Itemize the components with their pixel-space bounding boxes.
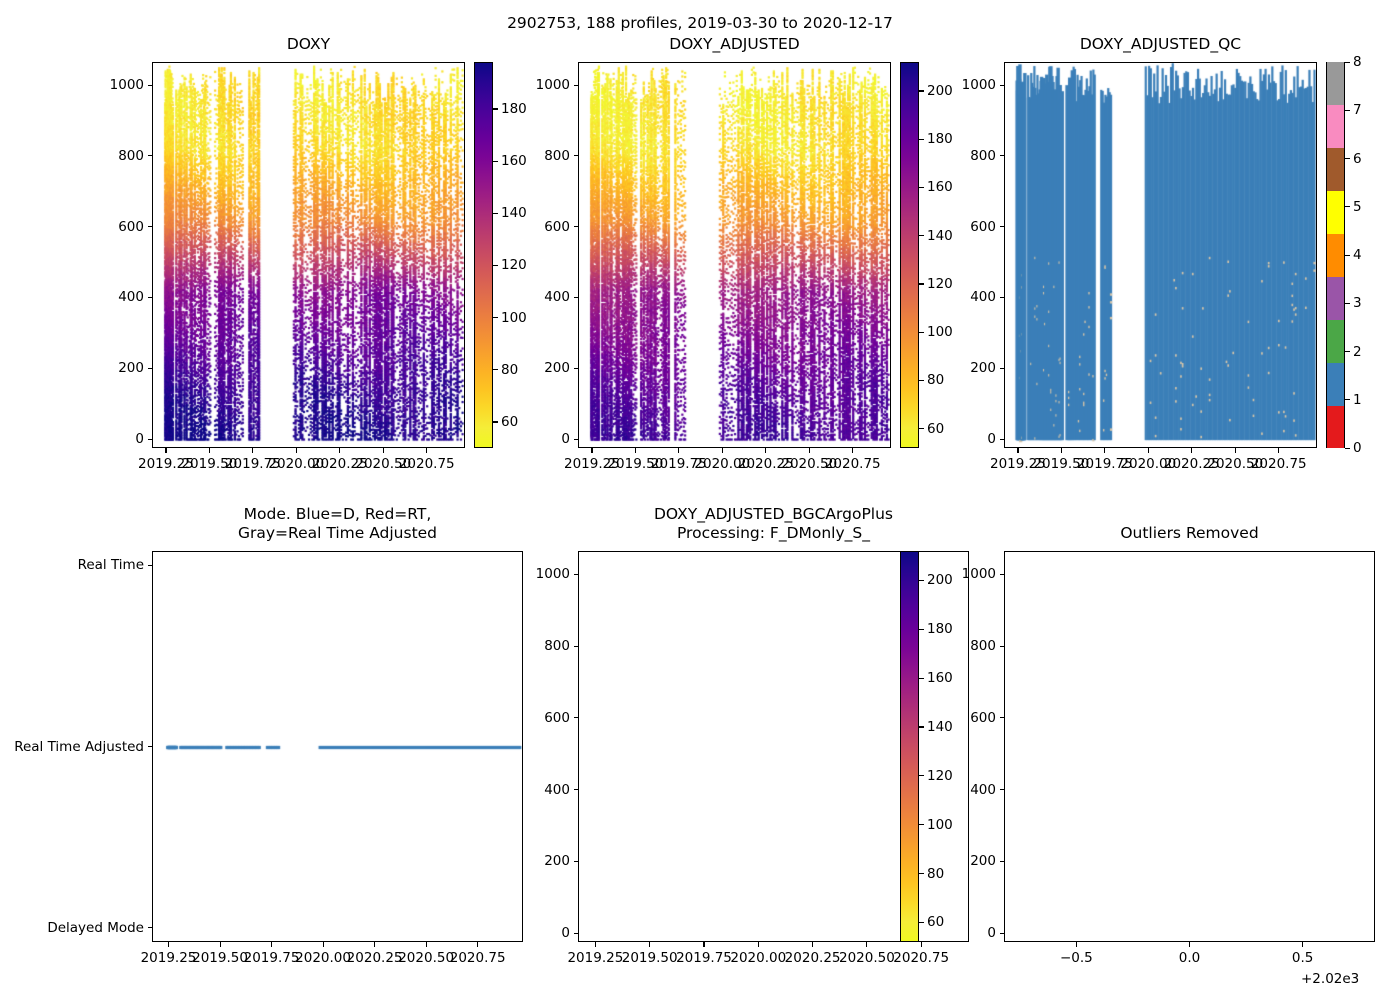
figure-suptitle: 2902753, 188 profiles, 2019-03-30 to 202… [0, 14, 1400, 32]
xtick-label-doxy_adjusted-6: 2020.75 [825, 456, 881, 472]
colorbar-segment-3 [1327, 276, 1344, 319]
xtick-mark-bgcargoplus-0 [595, 942, 596, 947]
data-layer-doxy_adjusted [579, 63, 891, 448]
ytick-mark-doxy_adjusted_qc-1 [1000, 368, 1005, 369]
xtick-label-outliers_removed-2: 0.5 [1292, 950, 1313, 966]
xtick-mark-mode-6 [477, 942, 478, 947]
xtick-mark-doxy-6 [426, 448, 427, 453]
colorbar-tick-bgcargoplus-6 [919, 629, 924, 630]
colorbar-label-doxy_adjusted-7: 200 [927, 83, 953, 99]
ytick-label-doxy_adjusted_qc-2: 400 [970, 289, 996, 305]
colorbar-tick-doxy_adjusted-7 [919, 90, 924, 91]
ytick-mark-bgcargoplus-4 [574, 646, 579, 647]
colorbar-label-doxy_adjusted-3: 120 [927, 276, 953, 292]
data-layer-doxy [153, 63, 465, 448]
xtick-label-mode-1: 2019.50 [192, 950, 248, 966]
xtick-mark-doxy-2 [252, 448, 253, 453]
ytick-mark-mode-0 [148, 565, 153, 566]
ytick-label-doxy_adjusted_qc-4: 800 [970, 148, 996, 164]
xtick-mark-bgcargoplus-6 [921, 942, 922, 947]
colorbar-segment-7 [1327, 105, 1344, 148]
ytick-mark-doxy_adjusted-3 [574, 226, 579, 227]
ytick-mark-doxy-3 [148, 226, 153, 227]
ytick-label-bgcargoplus-3: 600 [544, 710, 570, 726]
colorbar-label-bgcargoplus-6: 180 [927, 621, 953, 637]
xtick-mark-doxy_adjusted_qc-5 [1235, 448, 1236, 453]
colorbar-label-doxy_adjusted_qc-2: 2 [1353, 344, 1362, 360]
ytick-mark-doxy_adjusted_qc-3 [1000, 226, 1005, 227]
ytick-label-doxy-0: 0 [135, 431, 144, 447]
xtick-mark-doxy-4 [339, 448, 340, 453]
axes-title-mode: Mode. Blue=D, Red=RT, Gray=Real Time Adj… [152, 505, 523, 543]
colorbar-tick-doxy_adjusted_qc-0 [1345, 448, 1350, 449]
colorbar-bgcargoplus [900, 551, 919, 942]
colorbar-label-doxy-6: 180 [501, 101, 527, 117]
ytick-mark-doxy-5 [148, 85, 153, 86]
ytick-label-doxy-4: 800 [118, 148, 144, 164]
xtick-mark-doxy_adjusted_qc-1 [1061, 448, 1062, 453]
axes-title-doxy_adjusted: DOXY_ADJUSTED [578, 35, 891, 54]
colorbar-segment-2 [1327, 319, 1344, 362]
xtick-mark-doxy_adjusted-2 [678, 448, 679, 453]
colorbar-tick-doxy_adjusted-3 [919, 283, 924, 284]
colorbar-tick-doxy_adjusted_qc-6 [1345, 158, 1350, 159]
colorbar-doxy [474, 62, 493, 448]
ytick-label-doxy_adjusted_qc-5: 1000 [962, 77, 996, 93]
colorbar-tick-doxy-1 [493, 369, 498, 370]
colorbar-label-doxy_adjusted-2: 100 [927, 324, 953, 340]
xtick-mark-mode-2 [271, 942, 272, 947]
colorbar-label-doxy-5: 160 [501, 153, 527, 169]
ytick-label-doxy_adjusted_qc-3: 600 [970, 219, 996, 235]
ytick-mark-mode-2 [148, 927, 153, 928]
colorbar-label-doxy_adjusted_qc-1: 1 [1353, 392, 1362, 408]
ytick-label-mode-2: Delayed Mode [47, 920, 144, 936]
ytick-label-bgcargoplus-2: 400 [544, 782, 570, 798]
axes-title-doxy: DOXY [152, 35, 465, 54]
colorbar-doxy_adjusted [900, 62, 919, 448]
ytick-mark-doxy_adjusted-5 [574, 85, 579, 86]
xtick-mark-doxy_adjusted-4 [765, 448, 766, 453]
ytick-label-outliers_removed-5: 1000 [962, 566, 996, 582]
colorbar-label-doxy-2: 100 [501, 310, 527, 326]
ytick-label-doxy_adjusted_qc-1: 200 [970, 360, 996, 376]
ytick-mark-bgcargoplus-3 [574, 717, 579, 718]
ytick-mark-outliers_removed-1 [1000, 861, 1005, 862]
colorbar-label-doxy_adjusted_qc-4: 4 [1353, 247, 1362, 263]
xtick-mark-doxy_adjusted_qc-6 [1278, 448, 1279, 453]
ytick-mark-doxy_adjusted-2 [574, 297, 579, 298]
ytick-mark-bgcargoplus-1 [574, 861, 579, 862]
colorbar-label-doxy_adjusted_qc-8: 8 [1353, 54, 1362, 70]
xtick-label-bgcargoplus-1: 2019.50 [622, 950, 678, 966]
colorbar-tick-doxy_adjusted-6 [919, 139, 924, 140]
colorbar-label-doxy_adjusted-5: 160 [927, 179, 953, 195]
xtick-label-doxy_adjusted_qc-6: 2020.75 [1251, 456, 1307, 472]
ytick-label-outliers_removed-1: 200 [970, 853, 996, 869]
figure-canvas: 2902753, 188 profiles, 2019-03-30 to 202… [0, 0, 1400, 1000]
xtick-label-outliers_removed-0: −0.5 [1060, 950, 1093, 966]
xtick-mark-doxy-0 [165, 448, 166, 453]
ytick-label-doxy-2: 400 [118, 289, 144, 305]
colorbar-tick-doxy-4 [493, 213, 498, 214]
xtick-label-mode-5: 2020.50 [398, 950, 454, 966]
xtick-label-mode-6: 2020.75 [450, 950, 506, 966]
colorbar-tick-bgcargoplus-3 [919, 775, 924, 776]
xtick-mark-doxy_adjusted-1 [635, 448, 636, 453]
xtick-label-bgcargoplus-0: 2019.25 [567, 950, 623, 966]
ytick-mark-outliers_removed-3 [1000, 717, 1005, 718]
ytick-label-mode-1: Real Time Adjusted [14, 739, 144, 755]
colorbar-label-doxy-0: 60 [501, 414, 518, 430]
xtick-label-mode-4: 2020.25 [347, 950, 403, 966]
ytick-mark-mode-1 [148, 746, 153, 747]
ytick-label-doxy_adjusted-1: 200 [544, 360, 570, 376]
colorbar-tick-doxy_adjusted_qc-3 [1345, 303, 1350, 304]
xtick-mark-outliers_removed-0 [1076, 942, 1077, 947]
colorbar-tick-bgcargoplus-0 [919, 922, 924, 923]
colorbar-label-doxy_adjusted_qc-7: 7 [1353, 102, 1362, 118]
colorbar-label-bgcargoplus-4: 140 [927, 719, 953, 735]
xtick-label-doxy-6: 2020.75 [399, 456, 455, 472]
colorbar-tick-doxy_adjusted_qc-2 [1345, 351, 1350, 352]
xtick-label-mode-2: 2019.75 [244, 950, 300, 966]
xtick-mark-mode-0 [168, 942, 169, 947]
xtick-mark-mode-1 [220, 942, 221, 947]
xtick-label-mode-3: 2020.00 [295, 950, 351, 966]
ytick-mark-bgcargoplus-0 [574, 933, 579, 934]
colorbar-label-bgcargoplus-1: 80 [927, 866, 944, 882]
colorbar-tick-doxy-6 [493, 108, 498, 109]
xtick-mark-bgcargoplus-1 [649, 942, 650, 947]
xtick-mark-outliers_removed-1 [1189, 942, 1190, 947]
ytick-label-doxy_adjusted-3: 600 [544, 219, 570, 235]
colorbar-doxy_adjusted_qc [1326, 62, 1345, 448]
xtick-mark-doxy_adjusted_qc-0 [1017, 448, 1018, 453]
xtick-mark-doxy_adjusted-0 [591, 448, 592, 453]
colorbar-label-doxy_adjusted_qc-5: 5 [1353, 199, 1362, 215]
axes-doxy_adjusted_qc [1004, 62, 1317, 448]
colorbar-label-doxy-4: 140 [501, 205, 527, 221]
colorbar-tick-bgcargoplus-2 [919, 824, 924, 825]
colorbar-tick-doxy_adjusted_qc-1 [1345, 399, 1350, 400]
colorbar-tick-doxy-3 [493, 265, 498, 266]
ytick-mark-doxy-0 [148, 439, 153, 440]
colorbar-segment-0 [1327, 405, 1344, 448]
ytick-label-doxy_adjusted_qc-0: 0 [987, 431, 996, 447]
ytick-mark-bgcargoplus-2 [574, 789, 579, 790]
ytick-label-outliers_removed-4: 800 [970, 638, 996, 654]
xtick-mark-doxy-5 [383, 448, 384, 453]
ytick-label-doxy_adjusted-0: 0 [561, 431, 570, 447]
colorbar-segment-6 [1327, 148, 1344, 191]
colorbar-label-doxy-3: 120 [501, 257, 527, 273]
xtick-label-bgcargoplus-2: 2019.75 [676, 950, 732, 966]
ytick-mark-doxy_adjusted_qc-4 [1000, 155, 1005, 156]
xtick-mark-doxy_adjusted_qc-2 [1104, 448, 1105, 453]
ytick-mark-doxy-1 [148, 368, 153, 369]
axes-title-doxy_adjusted_qc: DOXY_ADJUSTED_QC [1004, 35, 1317, 54]
colorbar-label-doxy_adjusted-0: 60 [927, 421, 944, 437]
colorbar-tick-doxy-5 [493, 161, 498, 162]
ytick-label-bgcargoplus-5: 1000 [536, 566, 570, 582]
xtick-mark-bgcargoplus-5 [866, 942, 867, 947]
ytick-label-mode-0: Real Time [78, 557, 144, 573]
xtick-mark-doxy_adjusted_qc-4 [1191, 448, 1192, 453]
axes-title-bgcargoplus: DOXY_ADJUSTED_BGCArgoPlus Processing: F_… [578, 505, 969, 543]
colorbar-label-bgcargoplus-5: 160 [927, 670, 953, 686]
ytick-mark-doxy_adjusted_qc-5 [1000, 85, 1005, 86]
xtick-label-bgcargoplus-6: 2020.75 [893, 950, 949, 966]
ytick-mark-outliers_removed-2 [1000, 789, 1005, 790]
colorbar-label-doxy-1: 80 [501, 362, 518, 378]
xtick-mark-bgcargoplus-2 [703, 942, 704, 947]
ytick-mark-doxy-2 [148, 297, 153, 298]
xtick-label-outliers_removed-1: 0.0 [1179, 950, 1200, 966]
axes-mode [152, 551, 523, 942]
colorbar-label-doxy_adjusted_qc-6: 6 [1353, 151, 1362, 167]
colorbar-label-bgcargoplus-2: 100 [927, 817, 953, 833]
axes-outliers_removed [1004, 551, 1375, 942]
xtick-mark-doxy-3 [296, 448, 297, 453]
ytick-label-doxy_adjusted-2: 400 [544, 289, 570, 305]
xtick-mark-outliers_removed-2 [1302, 942, 1303, 947]
colorbar-label-doxy_adjusted-6: 180 [927, 131, 953, 147]
ytick-mark-doxy_adjusted-1 [574, 368, 579, 369]
ytick-label-doxy-3: 600 [118, 219, 144, 235]
colorbar-segment-5 [1327, 191, 1344, 234]
colorbar-tick-doxy_adjusted-5 [919, 187, 924, 188]
ytick-label-outliers_removed-0: 0 [987, 925, 996, 941]
ytick-label-doxy-5: 1000 [110, 77, 144, 93]
colorbar-tick-bgcargoplus-1 [919, 873, 924, 874]
ytick-mark-doxy_adjusted_qc-0 [1000, 439, 1005, 440]
colorbar-tick-doxy_adjusted_qc-4 [1345, 255, 1350, 256]
colorbar-tick-doxy_adjusted-4 [919, 235, 924, 236]
ytick-mark-doxy_adjusted-4 [574, 155, 579, 156]
xaxis-offset-text-outliers_removed: +2.02e3 [1301, 971, 1359, 987]
xtick-mark-bgcargoplus-3 [758, 942, 759, 947]
colorbar-segment-8 [1327, 62, 1344, 105]
colorbar-tick-doxy_adjusted-2 [919, 332, 924, 333]
xtick-label-bgcargoplus-3: 2020.00 [730, 950, 786, 966]
colorbar-label-doxy_adjusted_qc-3: 3 [1353, 295, 1362, 311]
axes-doxy [152, 62, 465, 448]
xtick-mark-doxy_adjusted-6 [852, 448, 853, 453]
colorbar-tick-doxy_adjusted-0 [919, 428, 924, 429]
xtick-mark-doxy_adjusted-5 [809, 448, 810, 453]
colorbar-label-doxy_adjusted_qc-0: 0 [1353, 440, 1362, 456]
xtick-mark-doxy-1 [209, 448, 210, 453]
ytick-label-bgcargoplus-0: 0 [561, 925, 570, 941]
colorbar-tick-doxy_adjusted_qc-7 [1345, 110, 1350, 111]
colorbar-tick-doxy_adjusted_qc-8 [1345, 62, 1350, 63]
xtick-mark-bgcargoplus-4 [812, 942, 813, 947]
colorbar-tick-doxy_adjusted-1 [919, 380, 924, 381]
colorbar-segment-1 [1327, 362, 1344, 405]
axes-title-outliers_removed: Outliers Removed [1004, 524, 1375, 543]
ytick-label-doxy_adjusted-4: 800 [544, 148, 570, 164]
xtick-label-mode-0: 2019.25 [141, 950, 197, 966]
xtick-mark-mode-3 [323, 942, 324, 947]
colorbar-segment-4 [1327, 234, 1344, 277]
ytick-mark-doxy_adjusted_qc-2 [1000, 297, 1005, 298]
ytick-mark-outliers_removed-5 [1000, 574, 1005, 575]
ytick-mark-doxy-4 [148, 155, 153, 156]
ytick-label-bgcargoplus-4: 800 [544, 638, 570, 654]
xtick-label-bgcargoplus-4: 2020.25 [785, 950, 841, 966]
colorbar-tick-doxy-2 [493, 317, 498, 318]
colorbar-tick-doxy-0 [493, 421, 498, 422]
ytick-label-doxy_adjusted-5: 1000 [536, 77, 570, 93]
axes-doxy_adjusted [578, 62, 891, 448]
xtick-mark-mode-4 [374, 942, 375, 947]
data-layer-doxy_adjusted_qc [1005, 63, 1317, 448]
colorbar-label-bgcargoplus-3: 120 [927, 768, 953, 784]
ytick-mark-doxy_adjusted-0 [574, 439, 579, 440]
ytick-label-doxy-1: 200 [118, 360, 144, 376]
colorbar-tick-doxy_adjusted_qc-5 [1345, 206, 1350, 207]
colorbar-tick-bgcargoplus-7 [919, 580, 924, 581]
xtick-mark-mode-5 [426, 942, 427, 947]
ytick-mark-outliers_removed-4 [1000, 646, 1005, 647]
ytick-label-outliers_removed-3: 600 [970, 710, 996, 726]
ytick-mark-bgcargoplus-5 [574, 574, 579, 575]
colorbar-label-doxy_adjusted-4: 140 [927, 228, 953, 244]
ytick-mark-outliers_removed-0 [1000, 933, 1005, 934]
xtick-mark-doxy_adjusted_qc-3 [1148, 448, 1149, 453]
colorbar-label-doxy_adjusted-1: 80 [927, 372, 944, 388]
ytick-label-bgcargoplus-1: 200 [544, 853, 570, 869]
xtick-mark-doxy_adjusted-3 [722, 448, 723, 453]
colorbar-label-bgcargoplus-0: 60 [927, 914, 944, 930]
data-layer-mode [153, 552, 523, 942]
colorbar-tick-bgcargoplus-5 [919, 678, 924, 679]
xtick-label-bgcargoplus-5: 2020.50 [839, 950, 895, 966]
colorbar-label-bgcargoplus-7: 200 [927, 572, 953, 588]
ytick-label-outliers_removed-2: 400 [970, 782, 996, 798]
colorbar-tick-bgcargoplus-4 [919, 726, 924, 727]
